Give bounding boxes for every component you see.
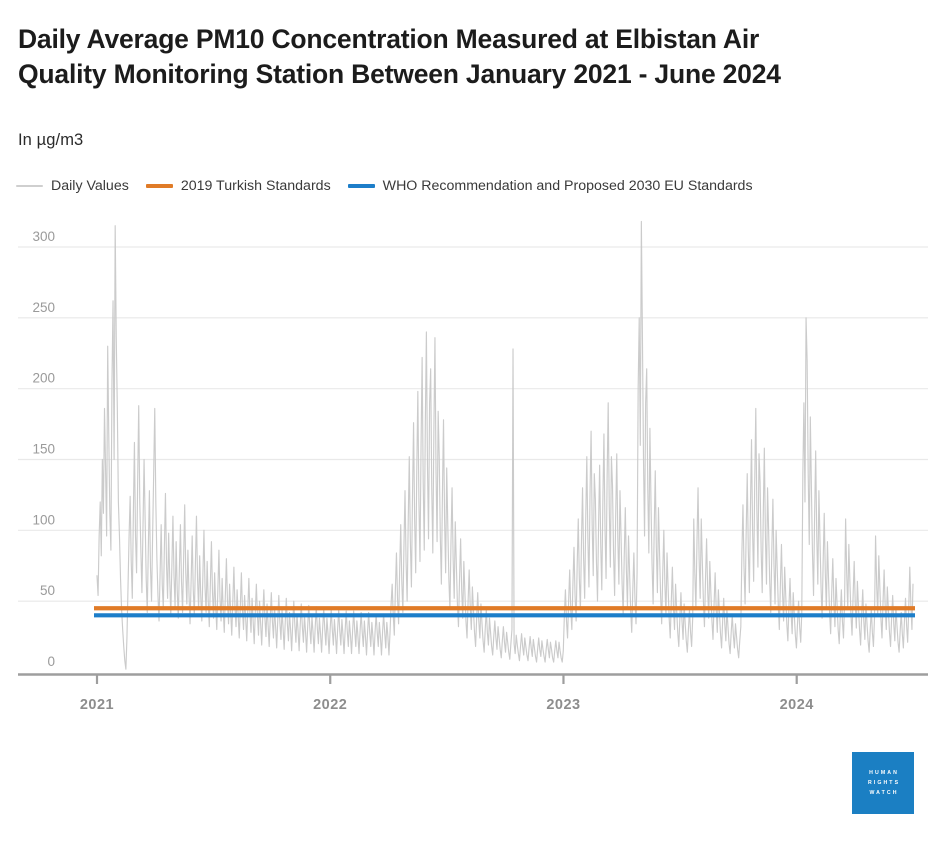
hrw-logo-line3: WATCH [867,790,898,797]
chart-x-axis [18,674,928,684]
x-axis-tick-label: 2023 [546,697,580,713]
hrw-logo-line1: HUMAN [867,770,899,777]
x-axis-tick-label: 2024 [780,697,814,713]
chart-x-axis-labels: 2021202220232024 [80,697,814,713]
y-axis-tick-label: 0 [47,654,55,669]
y-axis-tick-label: 100 [32,512,55,527]
x-axis-tick-label: 2022 [313,697,347,713]
x-axis-tick-label: 2021 [80,697,114,713]
hrw-logo-line2: RIGHTS [866,780,900,787]
chart-svg: 050100150200250300 2021202220232024 [0,0,946,760]
chart-plot-area: 050100150200250300 2021202220232024 [0,0,946,760]
y-axis-tick-label: 250 [32,300,55,315]
y-axis-tick-label: 300 [32,229,55,244]
y-axis-tick-label: 50 [40,583,55,598]
chart-page: Daily Average PM10 Concentration Measure… [0,0,946,848]
y-axis-tick-label: 150 [32,442,55,457]
chart-data-series-daily-values [97,222,913,670]
y-axis-tick-label: 200 [32,371,55,386]
chart-y-axis-labels: 050100150200250300 [32,229,55,669]
hrw-logo: HUMAN RIGHTS WATCH [852,752,914,814]
